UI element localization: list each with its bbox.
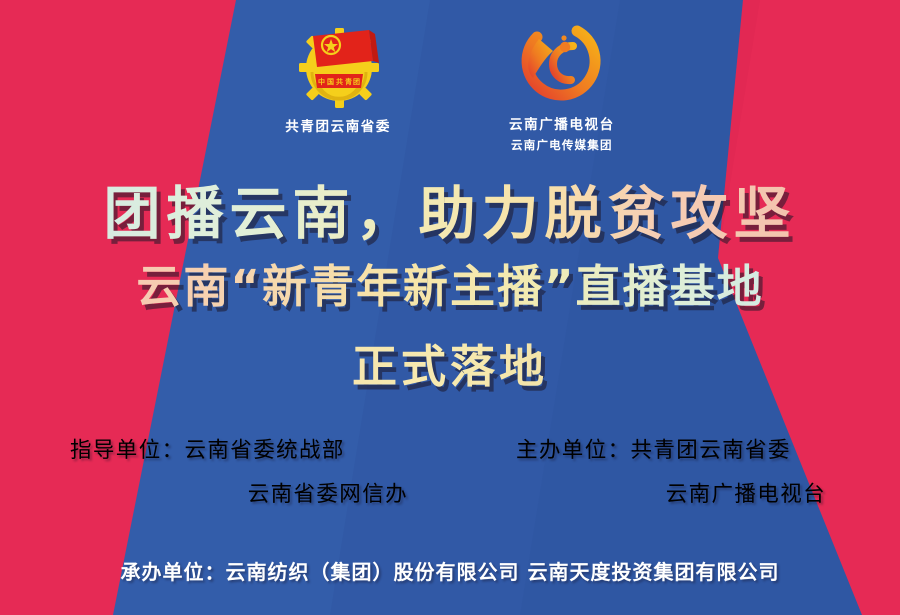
yunnan-radio-tv-peacock-icon <box>515 18 609 110</box>
credits-guidance-line1: 指导单位：云南省委统战部 <box>54 440 414 462</box>
headline-line-3: 正式落地 <box>0 330 900 395</box>
svg-text:共: 共 <box>336 77 343 86</box>
headline-line-1-text: 团播云南，助力脱贫攻坚 <box>104 168 797 250</box>
credits-organizer-line2: 云南广播电视台 <box>486 484 846 506</box>
svg-text:团: 团 <box>353 77 360 86</box>
credits-columns: 指导单位：云南省委统战部 云南省委网信办 主办单位：共青团云南省委 云南广播电视… <box>0 440 900 505</box>
poster-canvas: 中国 共青团 共青团云南省委 <box>0 0 900 615</box>
headline-line-2-text: 云南“新青年新主播”直播基地 <box>136 250 763 315</box>
credits-column-organizer: 主办单位：共青团云南省委 云南广播电视台 <box>486 440 846 505</box>
logo-block-cyl: 中国 共青团 共青团云南省委 <box>285 18 391 136</box>
headline-line-2: 云南“新青年新主播”直播基地 <box>0 250 900 315</box>
svg-text:国: 国 <box>327 77 334 86</box>
credits-column-guidance: 指导单位：云南省委统战部 云南省委网信办 <box>54 440 414 505</box>
headline-line-3-text: 正式落地 <box>352 330 548 395</box>
logo-caption-cyl-line1: 共青团云南省委 <box>285 119 391 136</box>
credits-organizer-line1: 主办单位：共青团云南省委 <box>486 440 846 462</box>
headline-line-1: 团播云南，助力脱贫攻坚 <box>0 168 900 250</box>
logo-caption-yrtv-line1: 云南广播电视台 <box>509 117 615 134</box>
communist-youth-league-emblem-icon: 中国 共青团 <box>287 18 389 112</box>
logo-caption-yrtv-line2: 云南广电传媒集团 <box>511 138 613 153</box>
credits-undertaker-line: 承办单位：云南纺织（集团）股份有限公司 云南天度投资集团有限公司 <box>0 556 900 585</box>
logo-block-yrtv: 云南广播电视台 云南广电传媒集团 <box>509 18 615 153</box>
svg-text:中: 中 <box>318 77 325 86</box>
svg-text:青: 青 <box>345 77 352 86</box>
credits-guidance-line2: 云南省委网信办 <box>54 484 414 506</box>
logo-row: 中国 共青团 共青团云南省委 <box>0 18 900 146</box>
